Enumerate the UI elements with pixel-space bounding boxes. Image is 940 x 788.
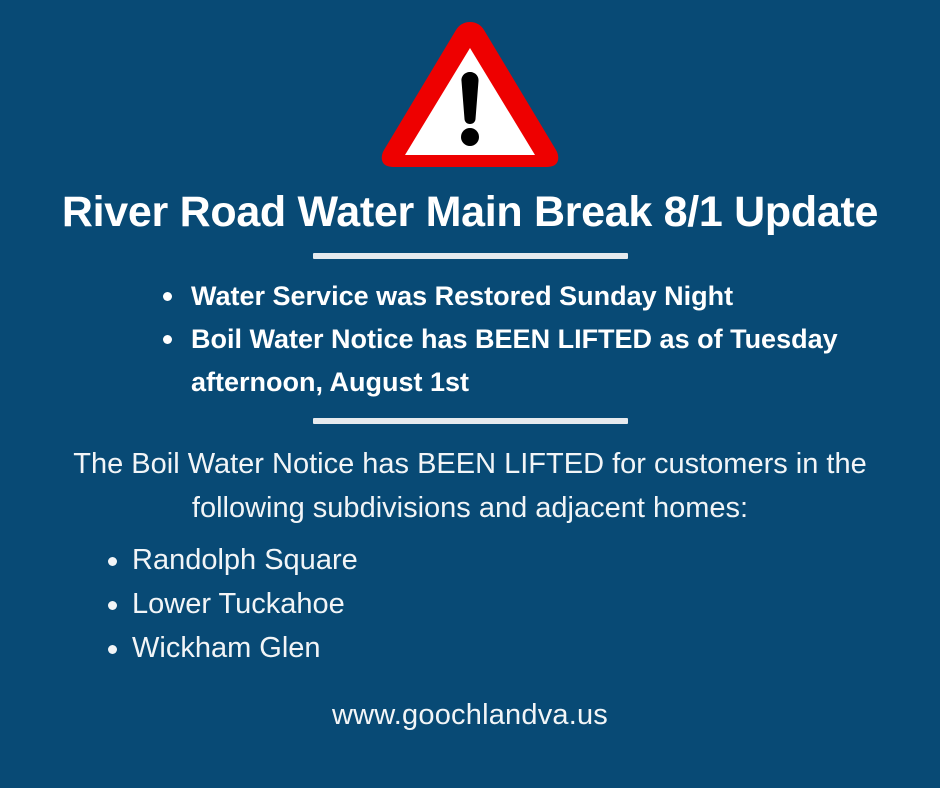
water-notice-card: River Road Water Main Break 8/1 Update W… (0, 0, 940, 788)
divider-bottom (313, 418, 628, 424)
warning-triangle-icon (380, 18, 560, 168)
list-item: Wickham Glen (108, 626, 910, 670)
list-item: Boil Water Notice has BEEN LIFTED as of … (145, 318, 850, 404)
list-item: Lower Tuckahoe (108, 582, 910, 626)
body-paragraph: The Boil Water Notice has BEEN LIFTED fo… (30, 442, 910, 530)
highlight-list: Water Service was Restored Sunday Night … (90, 275, 850, 405)
website-url[interactable]: www.goochlandva.us (0, 699, 940, 732)
page-title: River Road Water Main Break 8/1 Update (20, 190, 920, 236)
list-item: Water Service was Restored Sunday Night (145, 275, 850, 318)
list-item: Randolph Square (108, 538, 910, 582)
subdivision-list: Randolph Square Lower Tuckahoe Wickham G… (30, 538, 910, 670)
divider-top (313, 253, 628, 259)
